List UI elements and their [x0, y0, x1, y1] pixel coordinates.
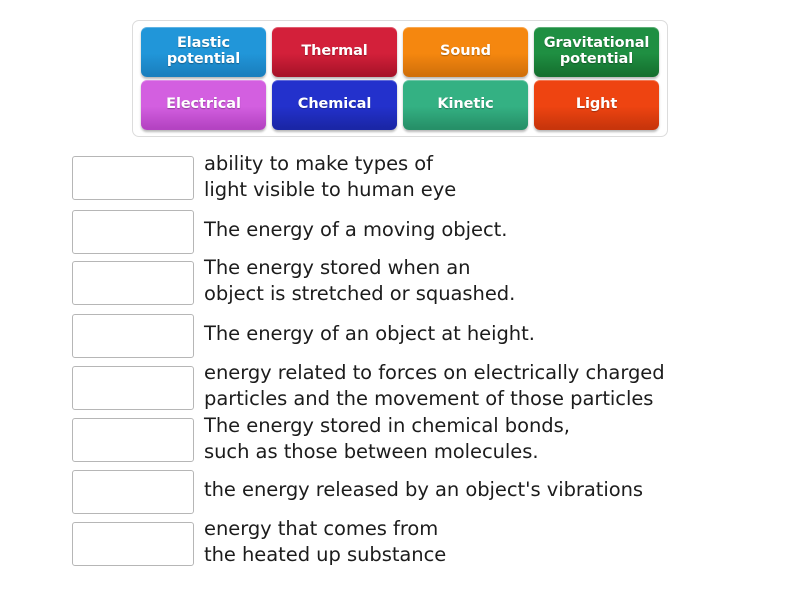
dropzone-6[interactable]: [72, 470, 194, 514]
dropzone-1[interactable]: [72, 210, 194, 254]
tile-label: Gravitational potential: [544, 35, 650, 67]
tile-row-bottom: Electrical Chemical Kinetic Light: [138, 80, 662, 130]
tile-sound[interactable]: Sound: [403, 27, 528, 77]
definition-text-0: ability to make types of light visible t…: [204, 151, 456, 203]
tile-light[interactable]: Light: [534, 80, 659, 130]
definition-text-5: The energy stored in chemical bonds, suc…: [204, 413, 570, 465]
tile-label: Elastic potential: [167, 35, 240, 67]
tile-label: Kinetic: [437, 96, 493, 112]
dropzone-7[interactable]: [72, 522, 194, 566]
definition-text-3: The energy of an object at height.: [204, 321, 535, 347]
definition-text-7: energy that comes from the heated up sub…: [204, 516, 446, 568]
tile-bank: Elastic potential Thermal Sound Gravitat…: [132, 20, 668, 137]
tile-gravitational-potential[interactable]: Gravitational potential: [534, 27, 659, 77]
dropzone-5[interactable]: [72, 418, 194, 462]
tile-kinetic[interactable]: Kinetic: [403, 80, 528, 130]
definition-text-2: The energy stored when an object is stre…: [204, 255, 515, 307]
tile-label: Thermal: [301, 43, 367, 59]
tile-chemical[interactable]: Chemical: [272, 80, 397, 130]
tile-electrical[interactable]: Electrical: [141, 80, 266, 130]
dropzone-0[interactable]: [72, 156, 194, 200]
definition-text-6: the energy released by an object's vibra…: [204, 477, 643, 503]
dropzone-3[interactable]: [72, 314, 194, 358]
tile-label: Chemical: [298, 96, 371, 112]
definition-text-4: energy related to forces on electrically…: [204, 360, 665, 412]
tile-label: Light: [576, 96, 617, 112]
dropzone-2[interactable]: [72, 261, 194, 305]
definition-text-1: The energy of a moving object.: [204, 217, 507, 243]
tile-label: Sound: [440, 43, 491, 59]
activity-canvas: Elastic potential Thermal Sound Gravitat…: [0, 0, 800, 600]
dropzone-4[interactable]: [72, 366, 194, 410]
tile-elastic-potential[interactable]: Elastic potential: [141, 27, 266, 77]
tile-label: Electrical: [166, 96, 241, 112]
tile-row-top: Elastic potential Thermal Sound Gravitat…: [138, 27, 662, 77]
tile-thermal[interactable]: Thermal: [272, 27, 397, 77]
